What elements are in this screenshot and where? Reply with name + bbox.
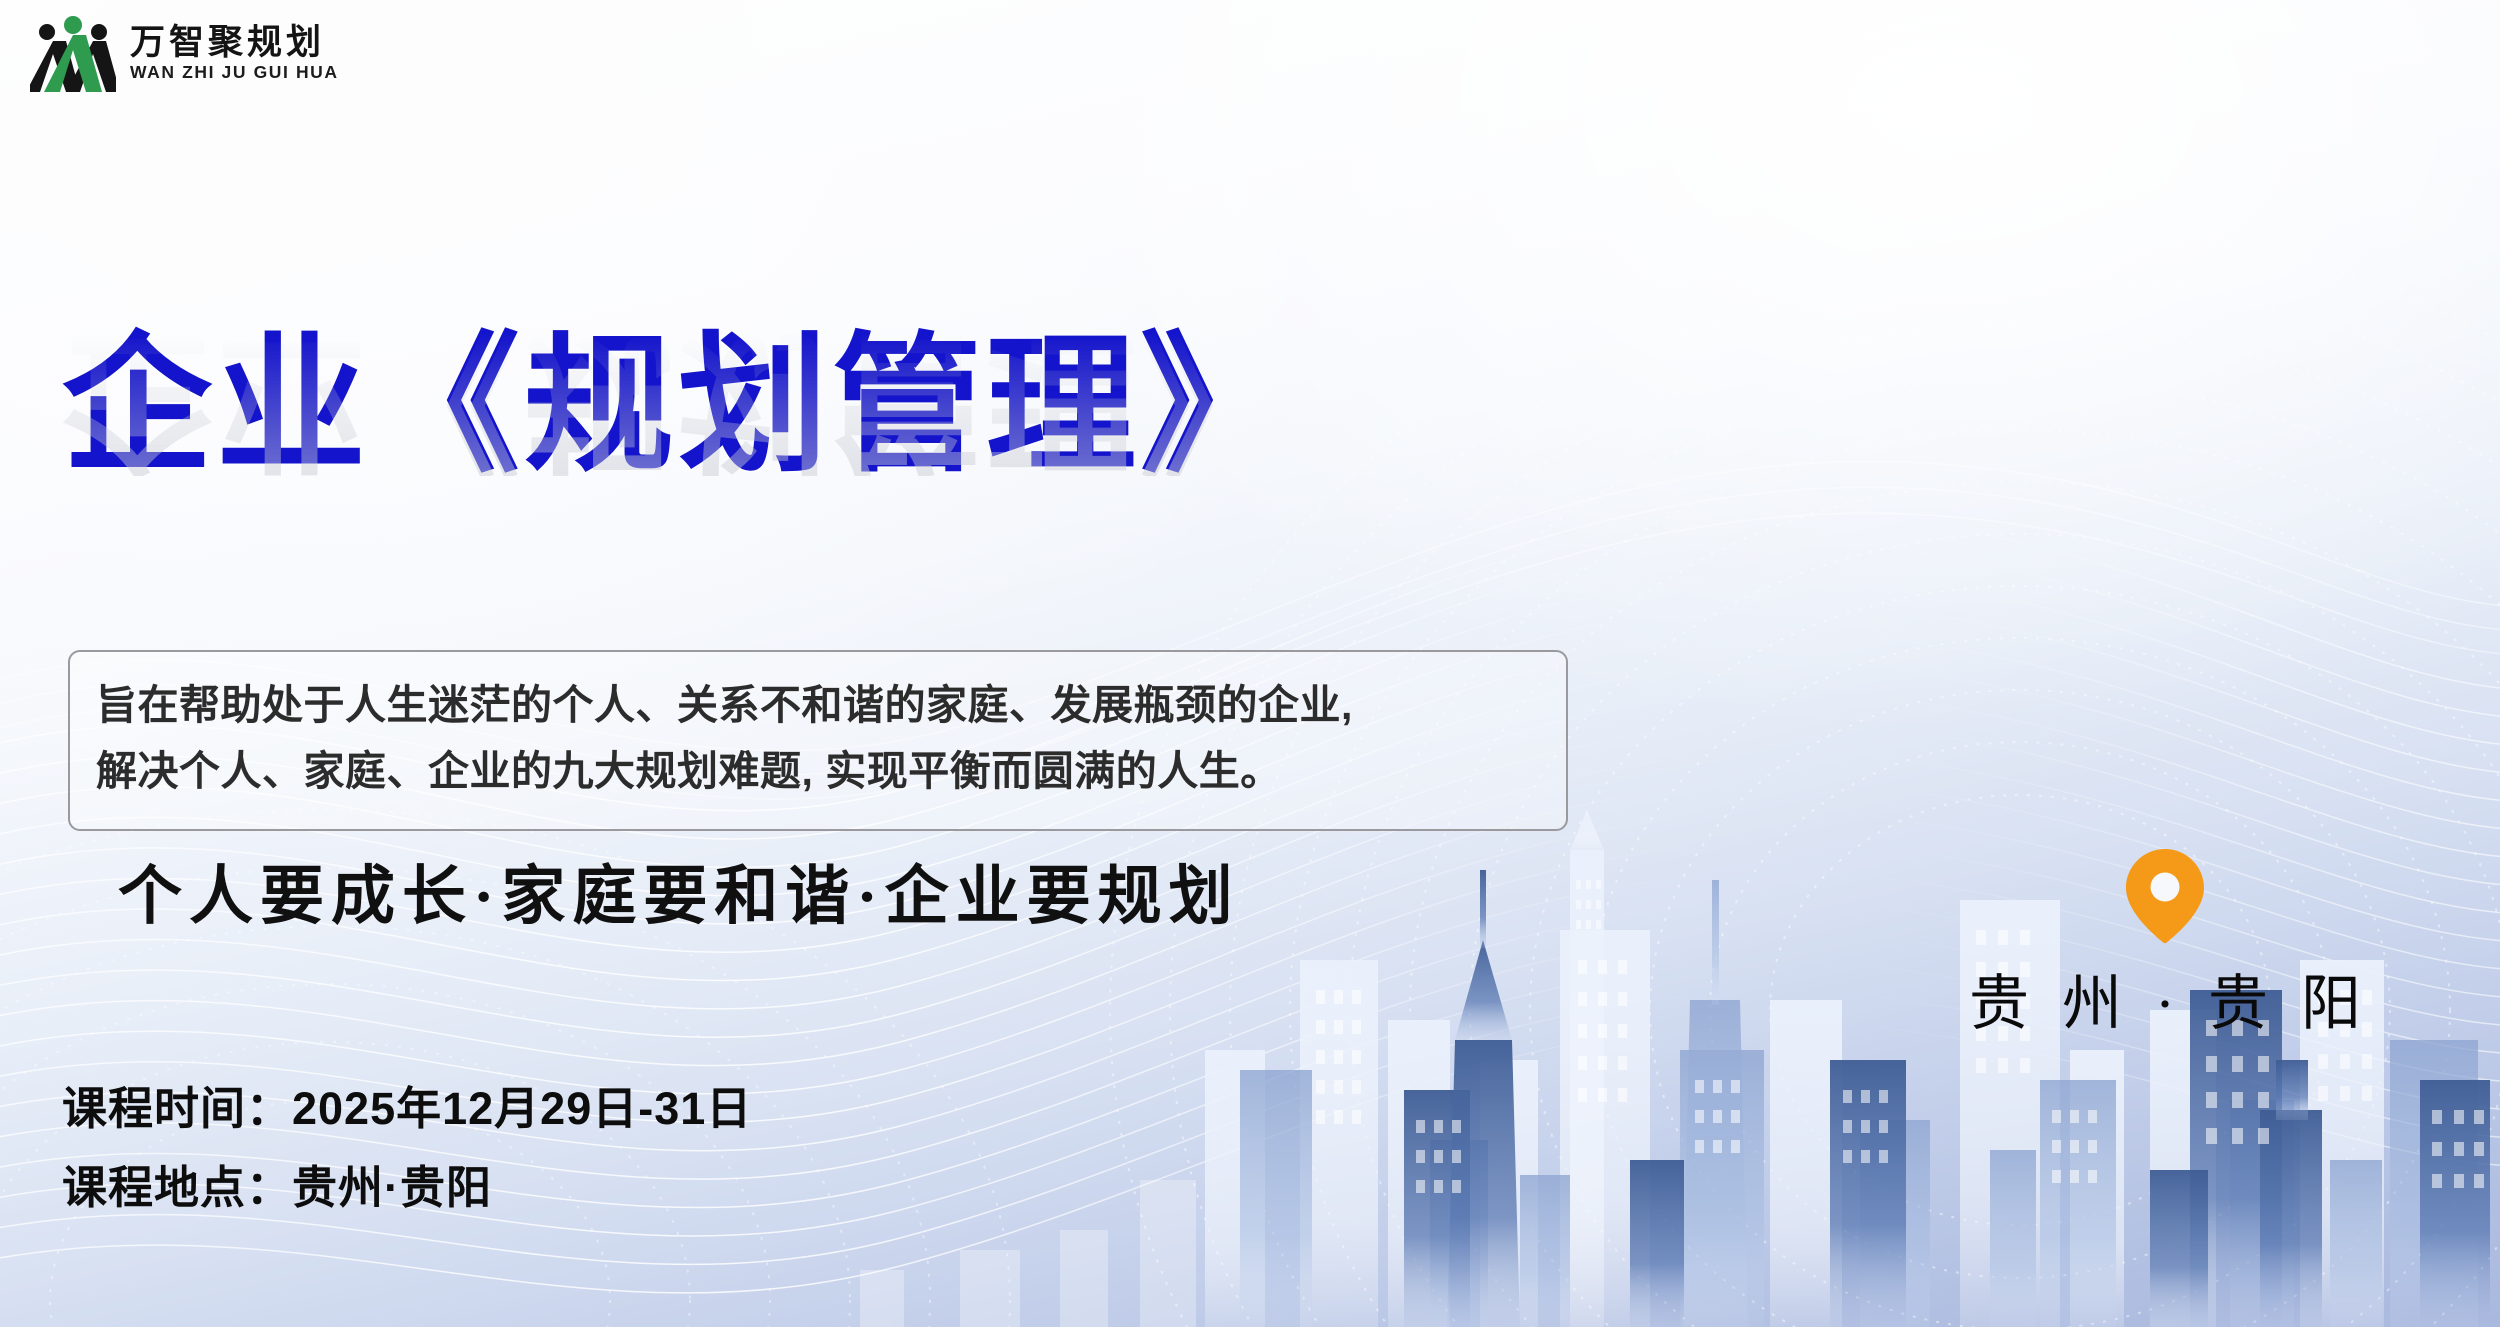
brand-logo-text: 万智聚规划 WAN ZHI JU GUI HUA [130, 25, 339, 81]
three-people-logo-icon [30, 14, 116, 92]
course-time-row: 课程时间：2025年12月29日-31日 [62, 1085, 752, 1132]
description-line-2: 解决个人、家庭、企业的九大规划难题, 实现平衡而圆满的人生。 [96, 738, 1540, 804]
description-box: 旨在帮助处于人生迷茫的个人、关系不和谐的家庭、发展瓶颈的企业, 解决个人、家庭、… [68, 650, 1568, 831]
map-pin-icon [2120, 845, 2210, 945]
course-info-block: 课程时间：2025年12月29日-31日 课程地点：贵州·贵阳 [62, 1085, 752, 1212]
promo-banner: 万智聚规划 WAN ZHI JU GUI HUA 企业《规划管理》 企业《规划管… [0, 0, 2500, 1327]
description-line-1: 旨在帮助处于人生迷茫的个人、关系不和谐的家庭、发展瓶颈的企业, [96, 672, 1540, 738]
brand-logo: 万智聚规划 WAN ZHI JU GUI HUA [30, 14, 339, 92]
slogan-text: 个人要成长·家庭要和谐·企业要规划 [118, 862, 1240, 932]
brand-name-cn: 万智聚规划 [130, 25, 339, 62]
location-name: 贵 州 · 贵 阳 [1960, 955, 2370, 1042]
page-title-reflection: 企业《规划管理》 [62, 326, 1294, 476]
brand-name-pinyin: WAN ZHI JU GUI HUA [130, 64, 339, 82]
location-block: 贵 州 · 贵 阳 [1960, 845, 2370, 1042]
hero-title-block: 企业《规划管理》 企业《规划管理》 [62, 330, 1294, 626]
course-place-row: 课程地点：贵州·贵阳 [62, 1164, 752, 1211]
